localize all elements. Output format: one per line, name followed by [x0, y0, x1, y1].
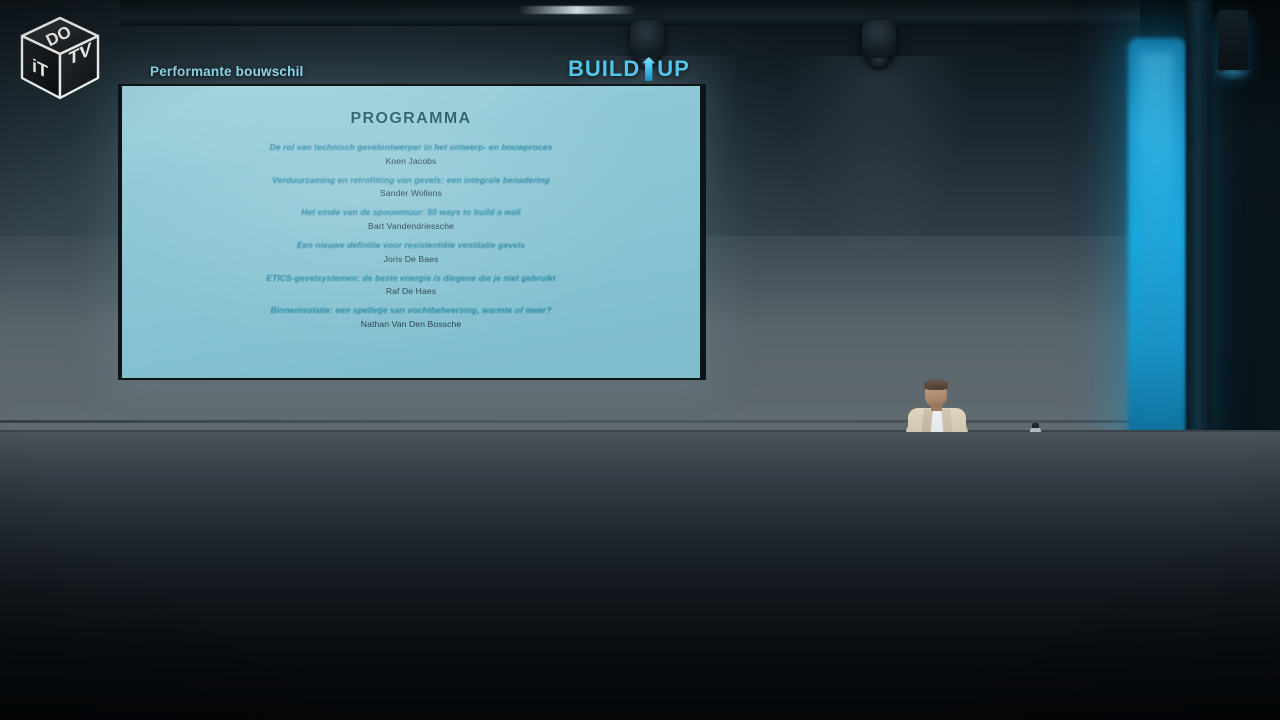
stage-spot-right-icon [862, 20, 896, 64]
program-speaker: Bart Vandendriessche [140, 221, 682, 231]
program-list: De rol van technisch gevelontwerper in h… [140, 142, 682, 329]
program-item: ETICS-gevelsystemen: de beste energie is… [140, 273, 682, 297]
program-topic: Verduurzaming en retrofitting van gevels… [140, 175, 682, 186]
event-logo-word-right: UP [657, 56, 690, 82]
program-topic: Het einde van de spouwmuur: 50 ways to b… [140, 207, 682, 218]
program-speaker: Koen Jacobs [140, 156, 682, 166]
program-speaker: Nathan Van Den Bossche [140, 319, 682, 329]
event-logo: BUILD UP [568, 56, 690, 82]
program-topic: Binnenisolatie: een spelletje van vochtb… [140, 305, 682, 316]
projection-screen: PROGRAMMA De rol van technisch gevelontw… [122, 86, 700, 378]
presenter-hair [924, 379, 948, 390]
program-speaker: Sander Wollens [140, 188, 682, 198]
right-pillar [1186, 0, 1212, 440]
program-item: Binnenisolatie: een spelletje van vochtb… [140, 305, 682, 329]
spot-glow-right [784, 56, 974, 266]
session-title-overlay: Performante bouwschil [150, 64, 303, 79]
blue-accent-core [1140, 52, 1174, 424]
audience-shading [0, 432, 1280, 720]
program-item: Verduurzaming en retrofitting van gevels… [140, 175, 682, 199]
audience-area [0, 432, 1280, 720]
ceiling-truss [120, 0, 1280, 26]
program-item: De rol van technisch gevelontwerper in h… [140, 142, 682, 166]
video-frame: PROGRAMMA De rol van technisch gevelontw… [0, 0, 1280, 720]
building-mark-icon [642, 57, 655, 81]
program-speaker: Raf De Haes [140, 286, 682, 296]
channel-logo[interactable]: DO iT TV [14, 12, 106, 104]
program-topic: De rol van technisch gevelontwerper in h… [140, 142, 682, 153]
slide-title: PROGRAMMA [140, 110, 682, 128]
wall-seam [0, 420, 1280, 423]
program-item: Het einde van de spouwmuur: 50 ways to b… [140, 207, 682, 231]
program-item: Een nieuwe definitie voor resistentiële … [140, 240, 682, 264]
wall-light-fixture [1218, 10, 1248, 72]
do-it-tv-cube-icon: DO iT TV [14, 12, 106, 104]
event-logo-word-left: BUILD [568, 56, 640, 82]
program-topic: ETICS-gevelsystemen: de beste energie is… [140, 273, 682, 284]
ceiling-light-strip [518, 6, 636, 14]
program-speaker: Joris De Baes [140, 254, 682, 264]
program-topic: Een nieuwe definitie voor resistentiële … [140, 240, 682, 251]
